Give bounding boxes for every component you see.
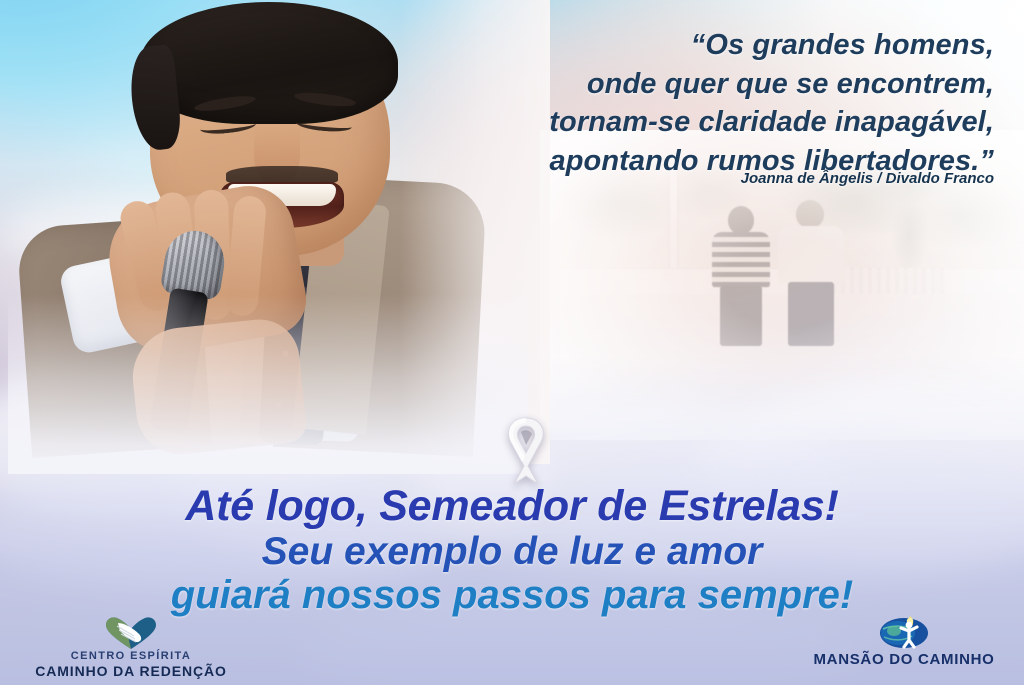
logo-left-line-2: CAMINHO DA REDENÇÃO bbox=[6, 663, 256, 679]
memorial-poster: “Os grandes homens, onde quer que se enc… bbox=[0, 0, 1024, 685]
portrait-bottom-fade bbox=[8, 294, 528, 474]
logo-right-line-1: MANSÃO DO CAMINHO bbox=[790, 651, 1018, 668]
quote-attribution: Joanna de Ângelis / Divaldo Franco bbox=[334, 170, 994, 187]
quote-line-2: onde quer que se encontrem, bbox=[334, 65, 994, 104]
heart-with-hands-icon bbox=[6, 616, 256, 650]
white-awareness-ribbon-icon bbox=[492, 412, 560, 488]
quote-text: “Os grandes homens, onde quer que se enc… bbox=[334, 26, 994, 180]
logo-left-line-1: CENTRO ESPÍRITA bbox=[6, 650, 256, 663]
logo-mansao-do-caminho[interactable]: MANSÃO DO CAMINHO bbox=[790, 614, 1018, 668]
message-line-2: Seu exemplo de luz e amor bbox=[0, 532, 1024, 572]
message-line-3: guiará nossos passos para sempre! bbox=[0, 575, 1024, 616]
memorial-message: Até logo, Semeador de Estrelas! Seu exem… bbox=[0, 484, 1024, 617]
globe-with-figure-icon bbox=[790, 614, 1018, 648]
logo-centro-espirita-caminho-da-redencao[interactable]: CENTRO ESPÍRITA CAMINHO DA REDENÇÃO bbox=[6, 616, 256, 679]
quote-line-3: tornam-se claridade inapagável, bbox=[334, 103, 994, 142]
message-line-1: Até logo, Semeador de Estrelas! bbox=[0, 484, 1024, 528]
quote-line-1: “Os grandes homens, bbox=[334, 26, 994, 65]
